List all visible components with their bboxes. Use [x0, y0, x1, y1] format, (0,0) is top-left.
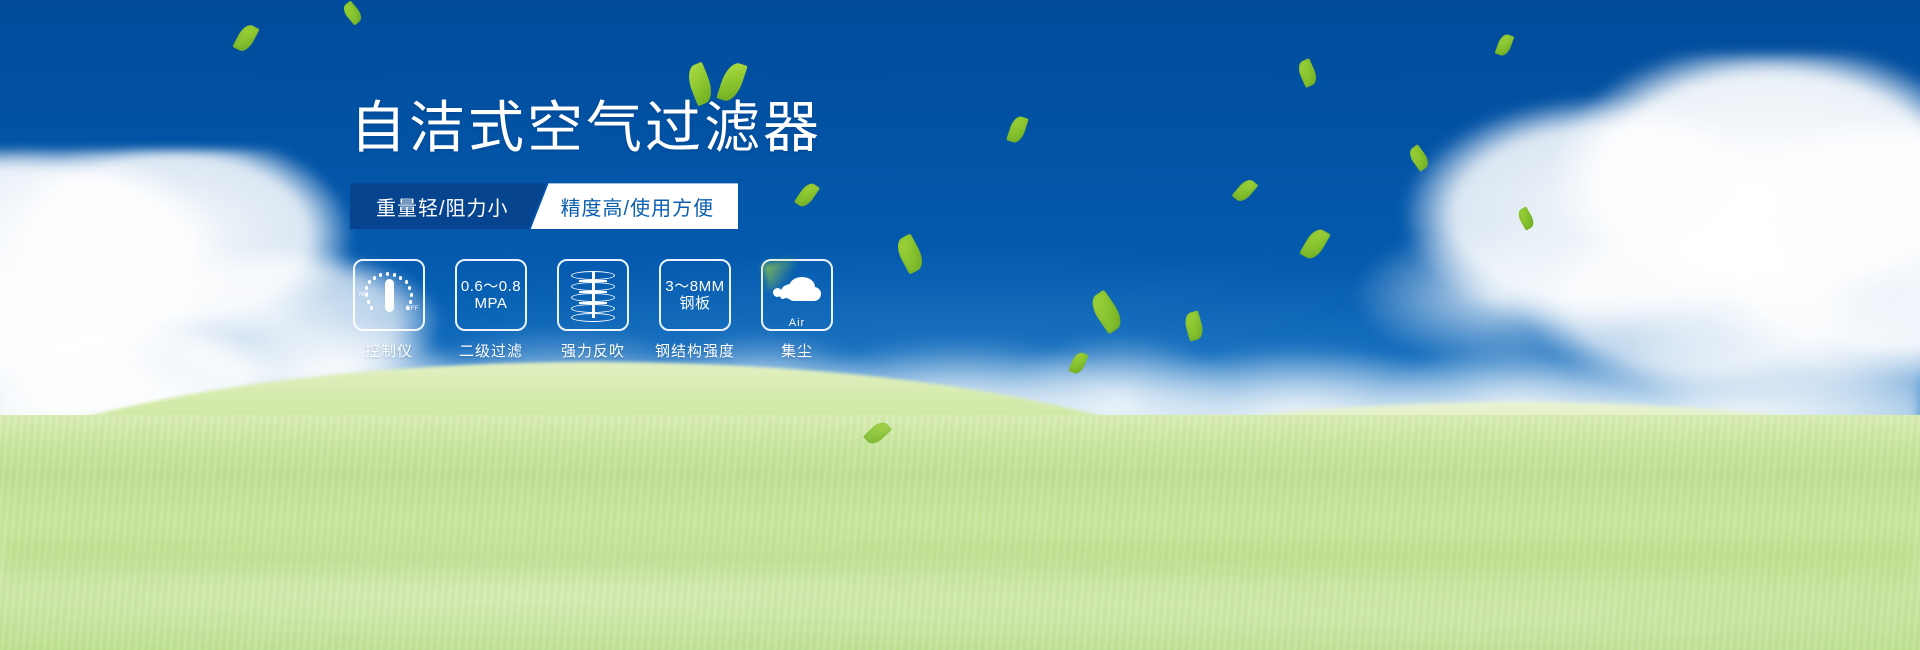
banner-content: 自洁式空气过滤器 重量轻/阻力小 精度高/使用方便 — [350, 98, 1090, 361]
feature-item-control[interactable]: NO OFF 控制仪 — [350, 259, 428, 361]
feature-tabs: 重量轻/阻力小 精度高/使用方便 — [350, 183, 1090, 229]
feature-icon-box: Air — [761, 259, 833, 331]
air-label: Air — [769, 317, 825, 329]
tab-weight-resistance[interactable]: 重量轻/阻力小 — [350, 183, 547, 229]
tab-precision-convenience[interactable]: 精度高/使用方便 — [531, 183, 739, 229]
pressure-unit: MPA — [461, 295, 521, 312]
feature-caption: 钢结构强度 — [655, 340, 735, 361]
pressure-text-icon: 0.6～0.8 MPA — [461, 278, 521, 313]
feature-caption: 强力反吹 — [561, 340, 625, 361]
dust-cloud-icon: Air — [769, 275, 825, 315]
leaf-icon — [683, 62, 717, 107]
feature-icon-box: 0.6～0.8 MPA — [455, 259, 527, 331]
control-dial-icon: NO OFF — [360, 270, 418, 320]
feature-list: NO OFF 控制仪 0.6～0.8 MPA 二级过滤 — [350, 259, 1090, 361]
feature-item-steel[interactable]: 3～8MM 钢板 钢结构强度 — [656, 259, 734, 361]
product-banner: 自洁式空气过滤器 重量轻/阻力小 精度高/使用方便 — [0, 0, 1920, 650]
feature-caption: 二级过滤 — [459, 340, 523, 361]
grass-shadow-band — [0, 528, 1920, 588]
feature-icon-box — [557, 259, 629, 331]
page-title: 自洁式空气过滤器 — [350, 98, 1090, 157]
feature-item-filtration[interactable]: 0.6～0.8 MPA 二级过滤 — [452, 259, 530, 361]
dial-needle — [385, 279, 394, 312]
feature-caption: 集尘 — [781, 340, 813, 361]
grass-field — [0, 415, 1920, 650]
dial-off-label: OFF — [406, 306, 419, 312]
title-leaf-decoration — [686, 60, 756, 106]
steel-plate-text-icon: 3～8MM 钢板 — [665, 278, 724, 313]
leaf-icon — [716, 60, 747, 104]
dial-on-label: NO — [359, 292, 369, 298]
feature-item-dust[interactable]: Air 集尘 — [758, 259, 836, 361]
coil-blowback-icon — [571, 270, 615, 320]
pressure-value: 0.6～0.8 — [461, 278, 521, 295]
steel-thickness: 3～8MM — [665, 278, 724, 295]
feature-caption: 控制仪 — [365, 340, 413, 361]
steel-material: 钢板 — [665, 295, 724, 312]
feature-icon-box: 3～8MM 钢板 — [659, 259, 731, 331]
feature-icon-box: NO OFF — [353, 259, 425, 331]
feature-item-blowback[interactable]: 强力反吹 — [554, 259, 632, 361]
